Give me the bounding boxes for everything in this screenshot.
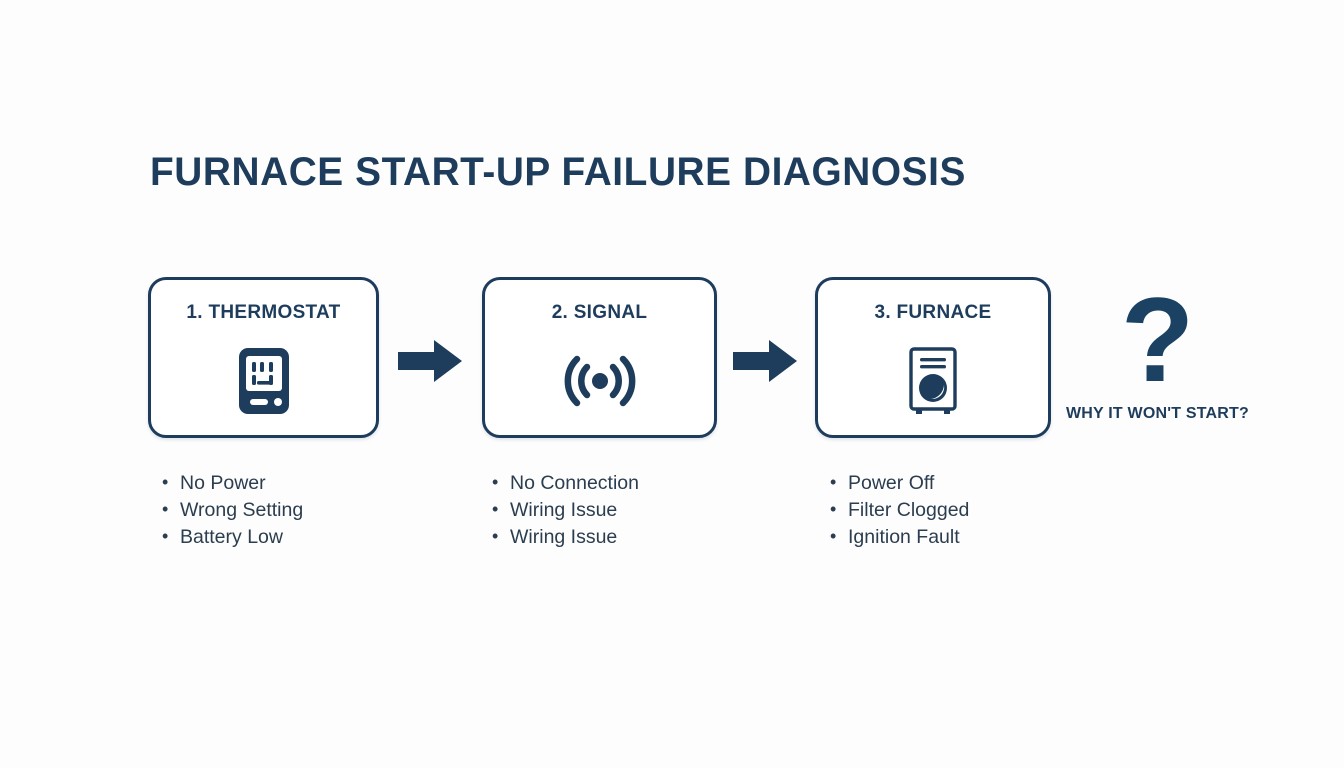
list-item: No Connection [492, 470, 639, 497]
stage-label-furnace: 3. FURNACE [815, 302, 1051, 324]
list-item: Battery Low [162, 524, 303, 551]
list-item: Filter Clogged [830, 497, 969, 524]
list-item: Wiring Issue [492, 497, 639, 524]
stage-card-thermostat[interactable]: 1. THERMOSTAT [148, 277, 379, 438]
list-item: Ignition Fault [830, 524, 969, 551]
wireless-signal-icon [558, 339, 642, 423]
stage-label-thermostat: 1. THERMOSTAT [148, 302, 379, 324]
diagram-canvas: FURNACE START-UP FAILURE DIAGNOSIS 1. TH… [0, 0, 1344, 768]
thermostat-icon [222, 339, 306, 423]
page-title: FURNACE START-UP FAILURE DIAGNOSIS [150, 150, 966, 195]
cause-list-furnace: Power Off Filter Clogged Ignition Fault [830, 470, 969, 551]
list-item: Power Off [830, 470, 969, 497]
stage-card-furnace[interactable]: 3. FURNACE [815, 277, 1051, 438]
cause-list-thermostat: No Power Wrong Setting Battery Low [162, 470, 303, 551]
question-caption: WHY IT WON'T START? [1055, 405, 1260, 423]
list-item: Wiring Issue [492, 524, 639, 551]
furnace-appliance-icon [891, 339, 975, 423]
stage-card-signal[interactable]: 2. SIGNAL [482, 277, 717, 438]
question-block: ? WHY IT WON'T START? [1055, 280, 1260, 440]
stage-label-signal: 2. SIGNAL [482, 302, 717, 324]
list-item: No Power [162, 470, 303, 497]
flow-arrow-1-icon [398, 339, 463, 383]
list-item: Wrong Setting [162, 497, 303, 524]
cause-list-signal: No Connection Wiring Issue Wiring Issue [492, 470, 639, 551]
question-mark-icon: ? [1055, 280, 1260, 400]
flow-arrow-2-icon [733, 339, 798, 383]
